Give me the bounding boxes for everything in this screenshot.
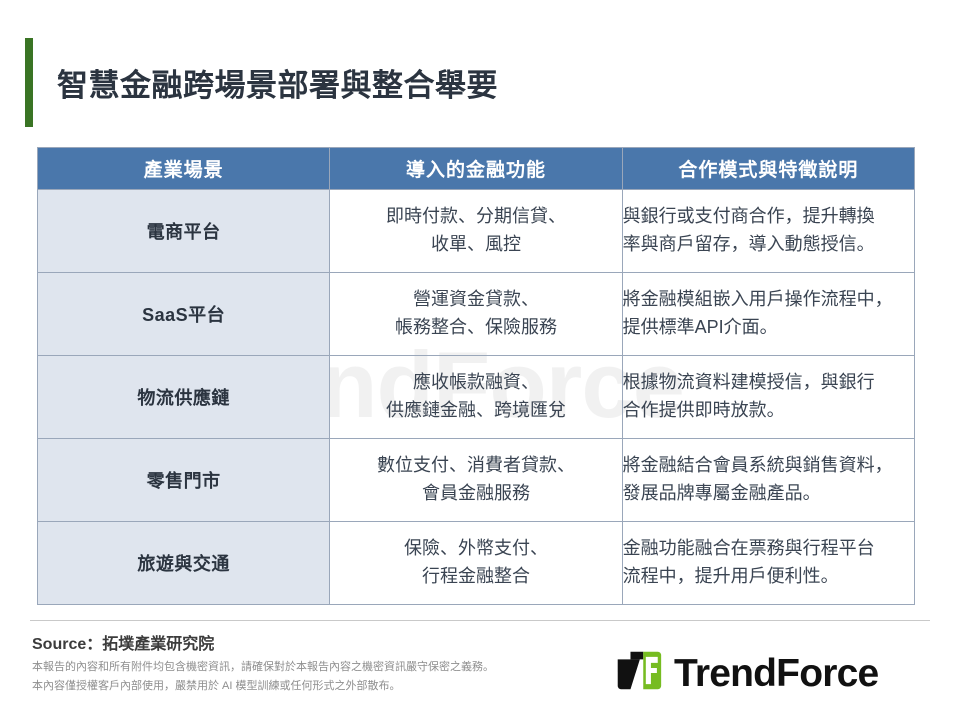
cell-function-line: 應收帳款融資、 [330, 369, 621, 397]
cell-description: 將金融結合會員系統與銷售資料， 發展品牌專屬金融產品。 [622, 439, 914, 522]
cell-function: 應收帳款融資、 供應鏈金融、跨境匯兌 [330, 356, 622, 439]
cell-description: 將金融模組嵌入用戶操作流程中， 提供標準API介面。 [622, 273, 914, 356]
cell-scene: 旅遊與交通 [38, 522, 330, 605]
cell-description: 與銀行或支付商合作，提升轉換 率與商戶留存，導入動態授信。 [622, 190, 914, 273]
table-header: 產業場景 導入的金融功能 合作模式與特徵說明 [38, 148, 915, 190]
cell-function-line: 保險、外幣支付、 [330, 535, 621, 563]
cell-description: 金融功能融合在票務與行程平台 流程中，提升用戶便利性。 [622, 522, 914, 605]
deployment-table: 產業場景 導入的金融功能 合作模式與特徵說明 電商平台 即時付款、分期信貸、 收… [37, 147, 915, 605]
cell-description-line: 率與商戶留存，導入動態授信。 [623, 231, 914, 259]
table-row: SaaS平台 營運資金貸款、 帳務整合、保險服務 將金融模組嵌入用戶操作流程中，… [38, 273, 915, 356]
trendforce-wordmark: TrendForce [674, 654, 878, 693]
table-header-row: 產業場景 導入的金融功能 合作模式與特徵說明 [38, 148, 915, 190]
title-block: 智慧金融跨場景部署與整合舉要 [0, 38, 960, 128]
column-header-scene: 產業場景 [38, 148, 330, 190]
cell-description: 根據物流資料建模授信，與銀行 合作提供即時放款。 [622, 356, 914, 439]
cell-function-line: 行程金融整合 [330, 563, 621, 591]
cell-description-line: 將金融結合會員系統與銷售資料， [623, 452, 914, 480]
column-header-function: 導入的金融功能 [330, 148, 622, 190]
cell-function-line: 供應鏈金融、跨境匯兌 [330, 397, 621, 425]
trendforce-logo-mark-icon [616, 648, 662, 698]
disclaimer-text: 本報告的內容和所有附件均包含機密資訊，請確保對於本報告內容之機密資訊嚴守保密之義… [32, 658, 494, 697]
table-body: 電商平台 即時付款、分期信貸、 收單、風控 與銀行或支付商合作，提升轉換 率與商… [38, 190, 915, 605]
source-label: Source：拓墣產業研究院 [32, 630, 214, 654]
table-row: 旅遊與交通 保險、外幣支付、 行程金融整合 金融功能融合在票務與行程平台 流程中… [38, 522, 915, 605]
cell-scene: 零售門市 [38, 439, 330, 522]
cell-function: 保險、外幣支付、 行程金融整合 [330, 522, 622, 605]
cell-function-line: 收單、風控 [330, 231, 621, 259]
cell-description-line: 發展品牌專屬金融產品。 [623, 480, 914, 508]
cell-description-line: 流程中，提升用戶便利性。 [623, 563, 914, 591]
trendforce-logo: TrendForce [616, 648, 878, 698]
deployment-table-wrapper: 產業場景 導入的金融功能 合作模式與特徵說明 電商平台 即時付款、分期信貸、 收… [37, 147, 915, 605]
cell-scene: SaaS平台 [38, 273, 330, 356]
cell-description-line: 合作提供即時放款。 [623, 397, 914, 425]
cell-function: 數位支付、消費者貸款、 會員金融服務 [330, 439, 622, 522]
cell-function-line: 營運資金貸款、 [330, 286, 621, 314]
cell-function-line: 數位支付、消費者貸款、 [330, 452, 621, 480]
cell-function-line: 會員金融服務 [330, 480, 621, 508]
page-title: 智慧金融跨場景部署與整合舉要 [57, 60, 498, 105]
green-accent-bar [25, 38, 33, 127]
cell-scene: 電商平台 [38, 190, 330, 273]
cell-description-line: 將金融模組嵌入用戶操作流程中， [623, 286, 914, 314]
disclaimer-line: 本報告的內容和所有附件均包含機密資訊，請確保對於本報告內容之機密資訊嚴守保密之義… [32, 658, 494, 677]
cell-scene: 物流供應鏈 [38, 356, 330, 439]
disclaimer-line: 本內容僅授權客戶內部使用，嚴禁用於 AI 模型訓練或任何形式之外部散布。 [32, 677, 494, 696]
cell-description-line: 提供標準API介面。 [623, 314, 914, 342]
table-row: 物流供應鏈 應收帳款融資、 供應鏈金融、跨境匯兌 根據物流資料建模授信，與銀行 … [38, 356, 915, 439]
cell-function-line: 即時付款、分期信貸、 [330, 203, 621, 231]
cell-function: 營運資金貸款、 帳務整合、保險服務 [330, 273, 622, 356]
column-header-description: 合作模式與特徵說明 [622, 148, 914, 190]
footer-divider [30, 620, 930, 621]
cell-description-line: 與銀行或支付商合作，提升轉換 [623, 203, 914, 231]
table-row: 零售門市 數位支付、消費者貸款、 會員金融服務 將金融結合會員系統與銷售資料， … [38, 439, 915, 522]
cell-description-line: 根據物流資料建模授信，與銀行 [623, 369, 914, 397]
cell-description-line: 金融功能融合在票務與行程平台 [623, 535, 914, 563]
cell-function: 即時付款、分期信貸、 收單、風控 [330, 190, 622, 273]
table-row: 電商平台 即時付款、分期信貸、 收單、風控 與銀行或支付商合作，提升轉換 率與商… [38, 190, 915, 273]
cell-function-line: 帳務整合、保險服務 [330, 314, 621, 342]
